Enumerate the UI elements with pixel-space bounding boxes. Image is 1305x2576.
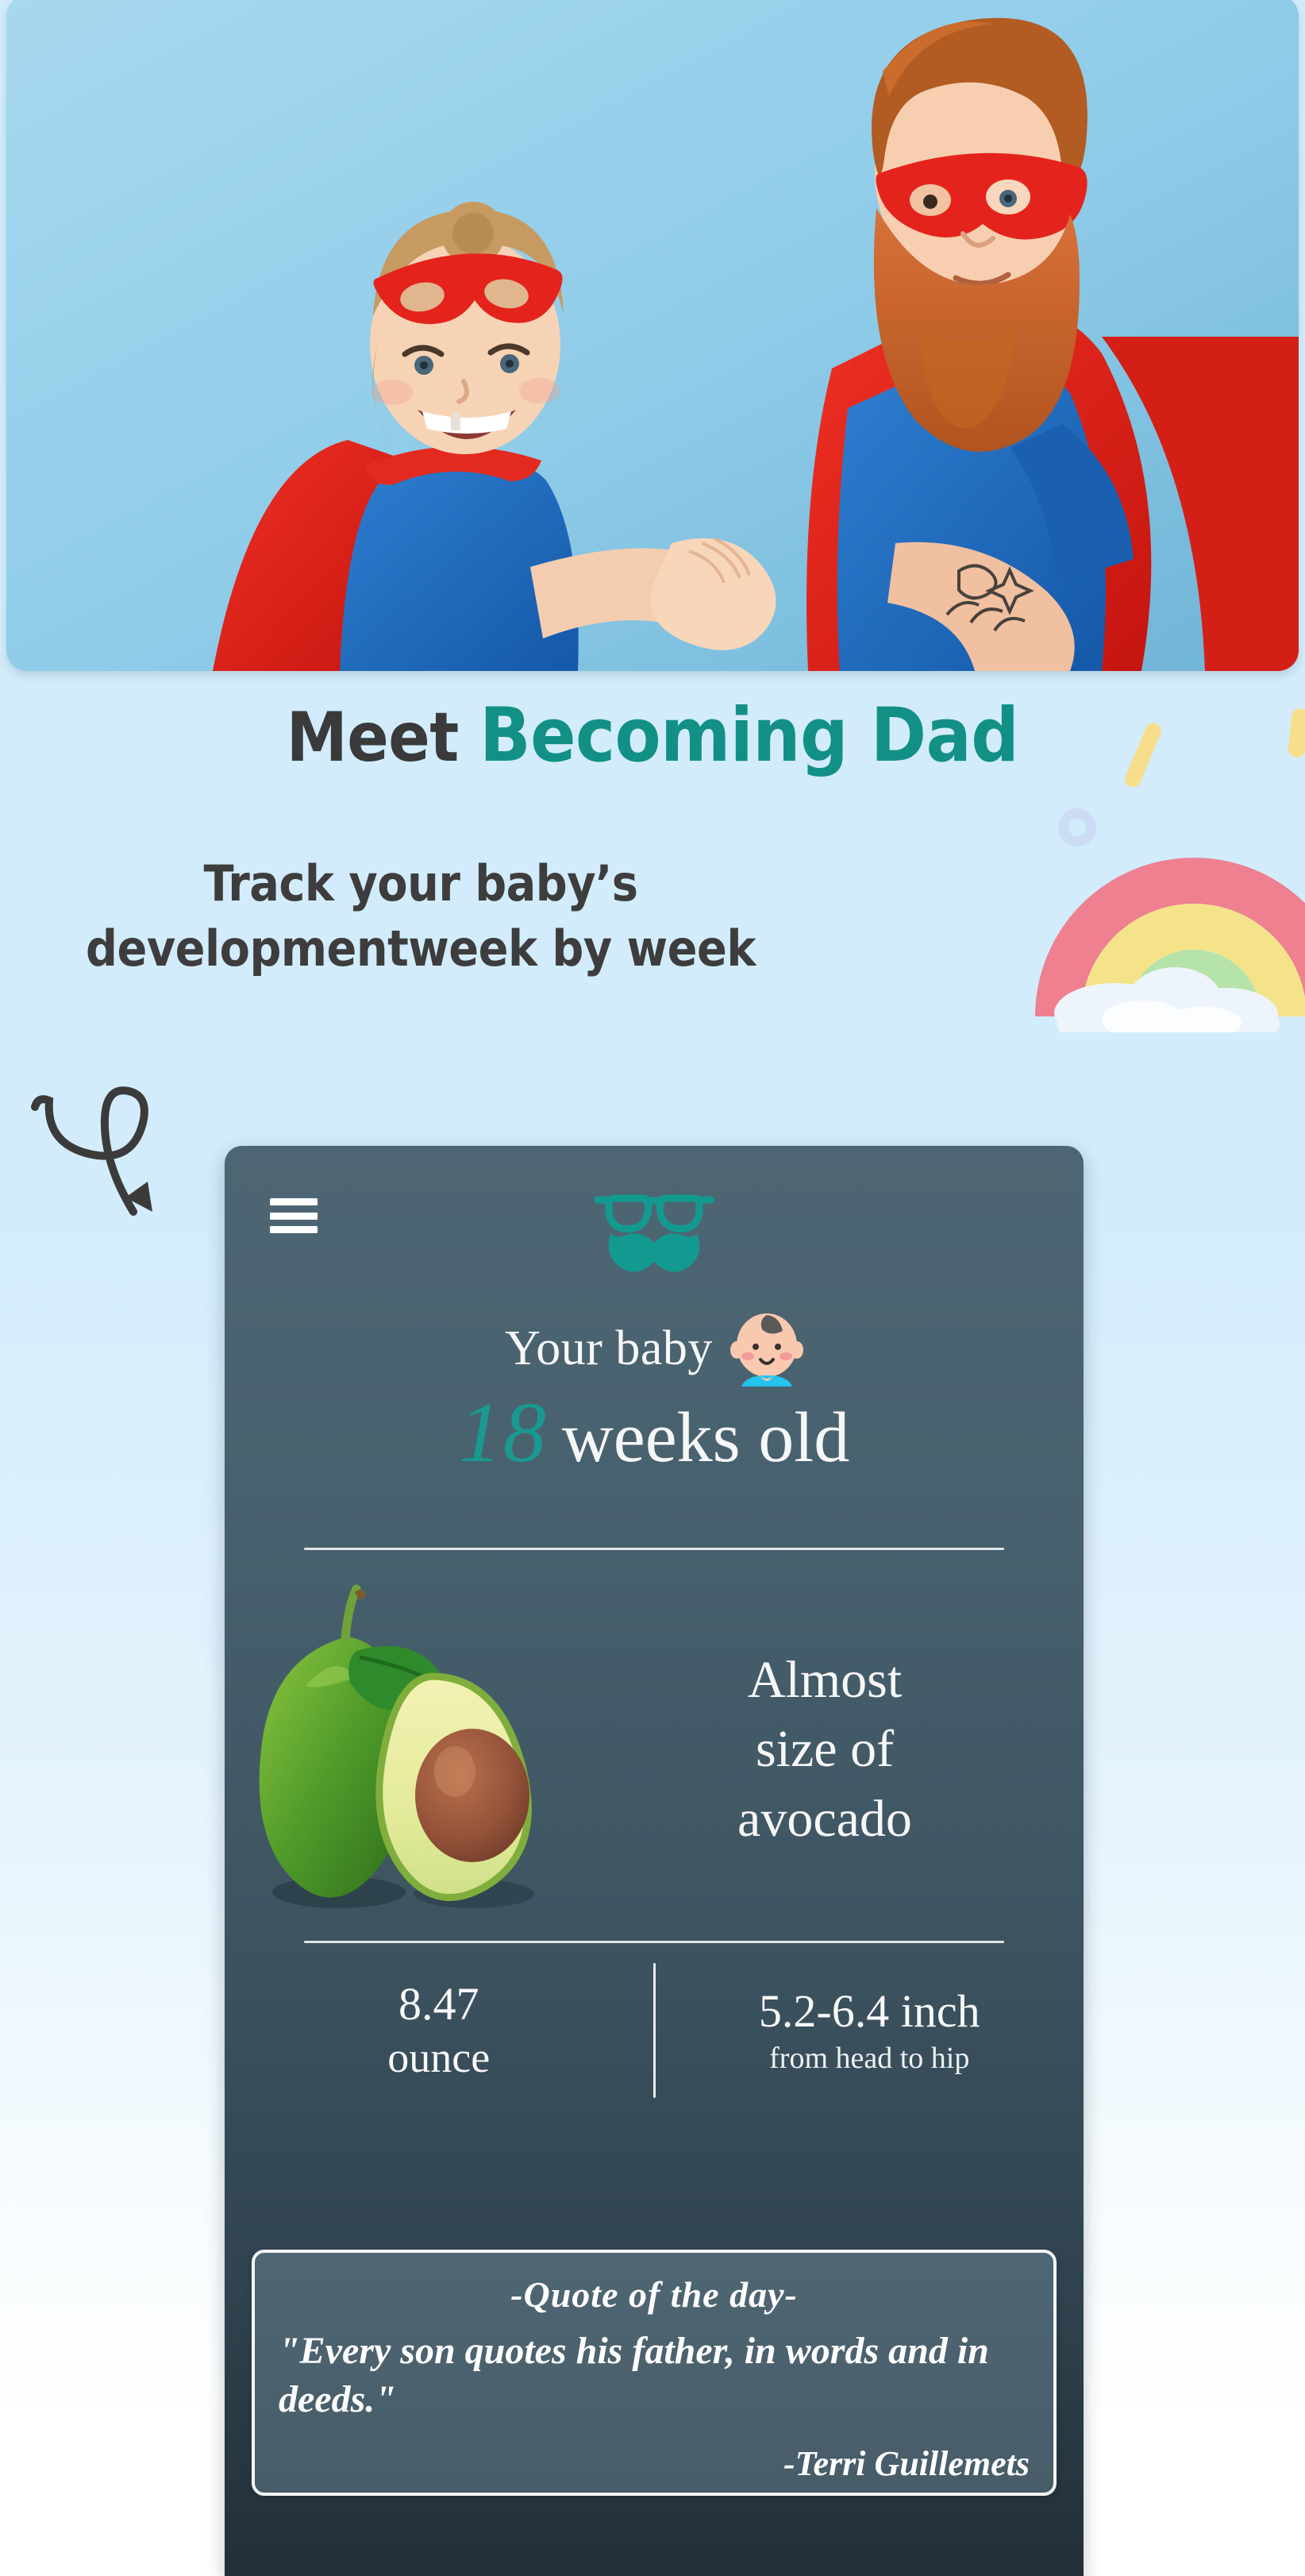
glasses-mustache-logo-icon [588, 1186, 720, 1281]
stat-length: 5.2-6.4 inch from head to hip [656, 1960, 1084, 2103]
curly-arrow-icon [24, 1042, 191, 1224]
stat-length-value: 5.2-6.4 inch [656, 1984, 1084, 2038]
quote-author: -Terri Guillemets [279, 2443, 1030, 2484]
size-line-2: size of [593, 1714, 1057, 1784]
rainbow-cloud-icon [1019, 746, 1305, 1032]
baby-stats-row: 8.47 ounce 5.2-6.4 inch from head to hip [225, 1960, 1084, 2103]
baby-label-row: Your baby [225, 1310, 1084, 1386]
hero-image [6, 0, 1299, 671]
age-unit: weeks old [548, 1398, 849, 1477]
size-line-3: avocado [593, 1784, 1057, 1853]
divider-bottom [304, 1941, 1004, 1943]
quote-text: "Every son quotes his father, in words a… [279, 2327, 1030, 2424]
baby-label: Your baby [505, 1321, 713, 1377]
subtitle-line-2: developmentweek by week [64, 916, 778, 981]
size-line-1: Almost [593, 1645, 1057, 1714]
subtitle-line-1: Track your baby’s [64, 851, 778, 916]
quote-of-the-day-box: -Quote of the day- "Every son quotes his… [252, 2250, 1057, 2496]
stat-weight-unit: ounce [225, 2031, 653, 2085]
page-root: Meet Becoming Dad Track your baby’s deve… [0, 0, 1305, 2576]
divider-top [304, 1548, 1004, 1550]
baby-face-icon [730, 1310, 803, 1386]
stat-weight-value: 8.47 [225, 1977, 653, 2031]
superhero-dad-and-daughter-photo [6, 0, 1299, 671]
baby-age-row: 18weeks old [225, 1384, 1084, 1483]
age-number: 18 [459, 1386, 548, 1480]
app-preview-card: Your baby 18weeks old [225, 1146, 1084, 2576]
quote-title: -Quote of the day- [279, 2273, 1030, 2316]
hamburger-menu-icon[interactable] [270, 1198, 318, 1233]
avocado-icon [244, 1575, 593, 1924]
page-title: Meet Becoming Dad [0, 699, 1305, 773]
size-label: Almost size of avocado [593, 1645, 1084, 1853]
blue-ring-icon [1058, 808, 1096, 846]
stat-weight: 8.47 ounce [225, 1960, 653, 2103]
stat-length-sub: from head to hip [656, 2039, 1084, 2078]
title-prefix: Meet [287, 698, 479, 777]
title-brand: Becoming Dad [479, 692, 1018, 779]
page-subtitle: Track your baby’s developmentweek by wee… [64, 851, 778, 981]
baby-size-row: Almost size of avocado [225, 1567, 1084, 1932]
